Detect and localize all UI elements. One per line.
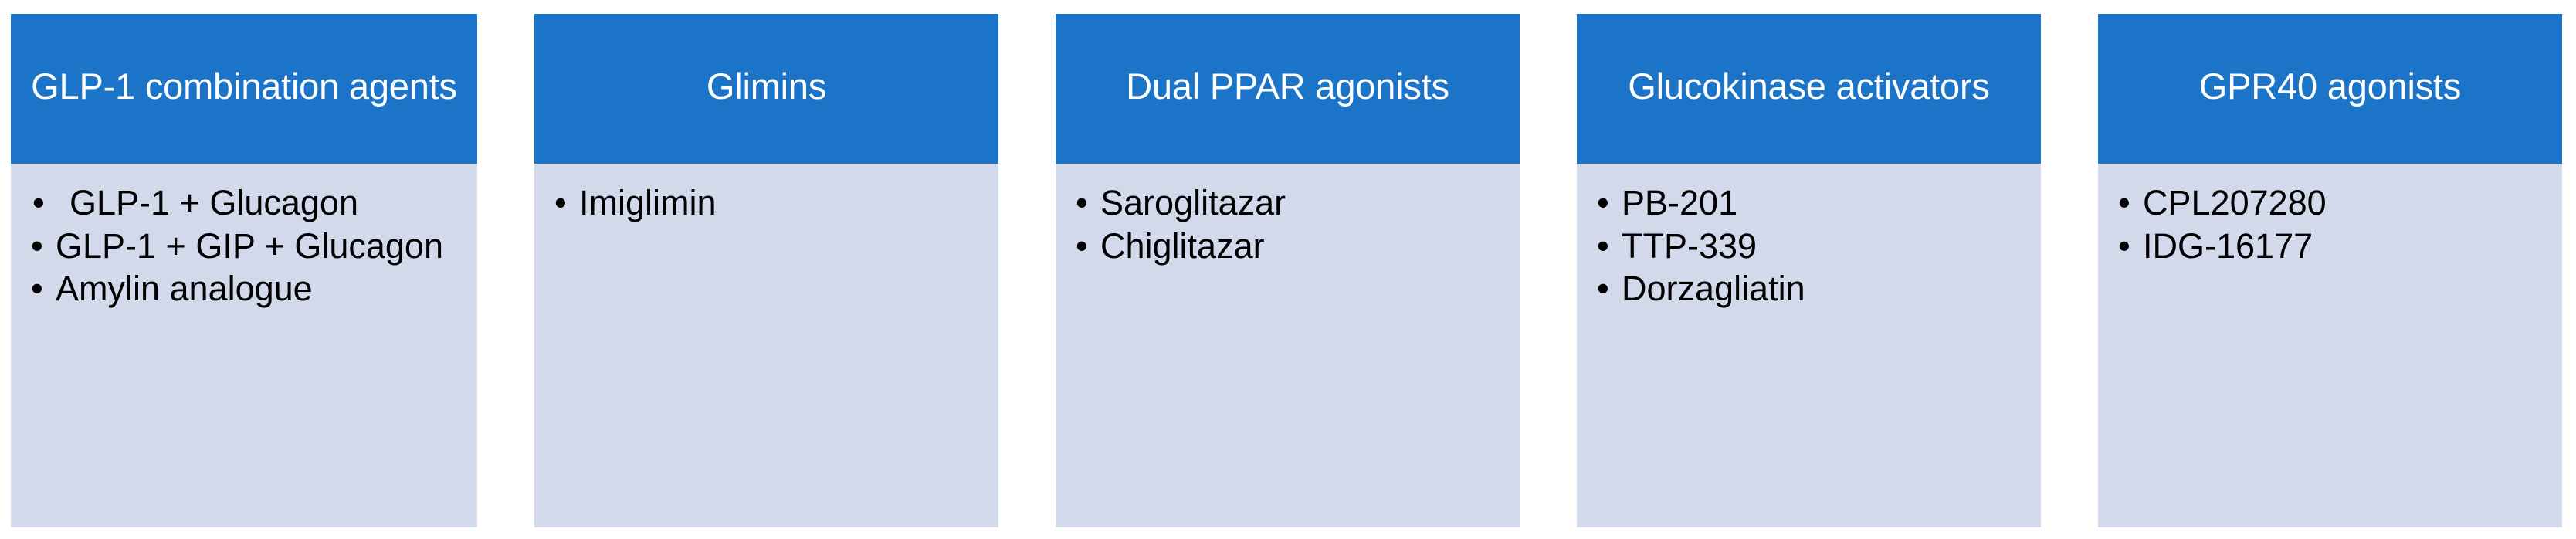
list-item-label: Amylin analogue	[56, 269, 313, 308]
list-item-label: Dorzagliatin	[1622, 269, 1805, 308]
bullet-icon: •	[31, 225, 51, 267]
card-item-list: • GLP-1 + Glucagon • GLP-1 + GIP + Gluca…	[22, 182, 466, 310]
card-item-list: • PB-201 • TTP-339 • Dorzagliatin	[1588, 182, 2030, 310]
list-item-label: GLP-1 + GIP + Glucagon	[56, 226, 443, 266]
card-header-title: Dual PPAR agonists	[1056, 14, 1520, 164]
card-body: • Saroglitazar • Chiglitazar	[1056, 164, 1520, 527]
list-item-label: Saroglitazar	[1100, 183, 1286, 222]
bullet-icon: •	[554, 182, 575, 224]
list-item: • TTP-339	[1588, 225, 2030, 267]
category-card-glp1-combination-agents[interactable]: GLP-1 combination agents • GLP-1 + Gluca…	[11, 14, 477, 527]
card-header-title: GLP-1 combination agents	[11, 14, 477, 164]
card-body: • PB-201 • TTP-339 • Dorzagliatin	[1577, 164, 2041, 527]
card-body: • GLP-1 + Glucagon • GLP-1 + GIP + Gluca…	[11, 164, 477, 527]
list-item: • Imiglimin	[545, 182, 988, 224]
bullet-icon: •	[32, 182, 53, 224]
card-item-list: • Saroglitazar • Chiglitazar	[1066, 182, 1509, 266]
list-item-label: PB-201	[1622, 183, 1737, 222]
list-item-label: GLP-1 + Glucagon	[69, 183, 358, 222]
bullet-icon: •	[31, 268, 51, 310]
list-item: • Saroglitazar	[1066, 182, 1509, 224]
list-item: • Dorzagliatin	[1588, 268, 2030, 310]
card-header-title: GPR40 agonists	[2098, 14, 2562, 164]
card-item-list: • Imiglimin	[545, 182, 988, 224]
bullet-icon: •	[1597, 225, 1617, 267]
bullet-icon: •	[2118, 225, 2138, 267]
category-card-gpr40-agonists[interactable]: GPR40 agonists • CPL207280 • IDG-16177	[2098, 14, 2562, 527]
category-card-glucokinase-activators[interactable]: Glucokinase activators • PB-201 • TTP-33…	[1577, 14, 2041, 527]
bullet-icon: •	[1597, 268, 1617, 310]
list-item-label: IDG-16177	[2143, 226, 2313, 266]
card-header-title: Glimins	[534, 14, 998, 164]
list-item: • Chiglitazar	[1066, 225, 1509, 267]
card-item-list: • CPL207280 • IDG-16177	[2109, 182, 2551, 266]
list-item: • CPL207280	[2109, 182, 2551, 224]
list-item-label: Chiglitazar	[1100, 226, 1265, 266]
bullet-icon: •	[1076, 225, 1096, 267]
card-body: • CPL207280 • IDG-16177	[2098, 164, 2562, 527]
card-header-title: Glucokinase activators	[1577, 14, 2041, 164]
list-item: • GLP-1 + Glucagon	[22, 182, 466, 224]
list-item-label: Imiglimin	[579, 183, 717, 222]
card-body: • Imiglimin	[534, 164, 998, 527]
bullet-icon: •	[2118, 182, 2138, 224]
list-item-label: TTP-339	[1622, 226, 1757, 266]
list-item: • Amylin analogue	[22, 268, 466, 310]
category-card-dual-ppar-agonists[interactable]: Dual PPAR agonists • Saroglitazar • Chig…	[1056, 14, 1520, 527]
bullet-icon: •	[1597, 182, 1617, 224]
list-item: • PB-201	[1588, 182, 2030, 224]
list-item: • IDG-16177	[2109, 225, 2551, 267]
list-item: • GLP-1 + GIP + Glucagon	[22, 225, 466, 267]
bullet-icon: •	[1076, 182, 1096, 224]
list-item-label: CPL207280	[2143, 183, 2327, 222]
category-card-glimins[interactable]: Glimins • Imiglimin	[534, 14, 998, 527]
category-card-board: GLP-1 combination agents • GLP-1 + Gluca…	[0, 0, 2576, 539]
